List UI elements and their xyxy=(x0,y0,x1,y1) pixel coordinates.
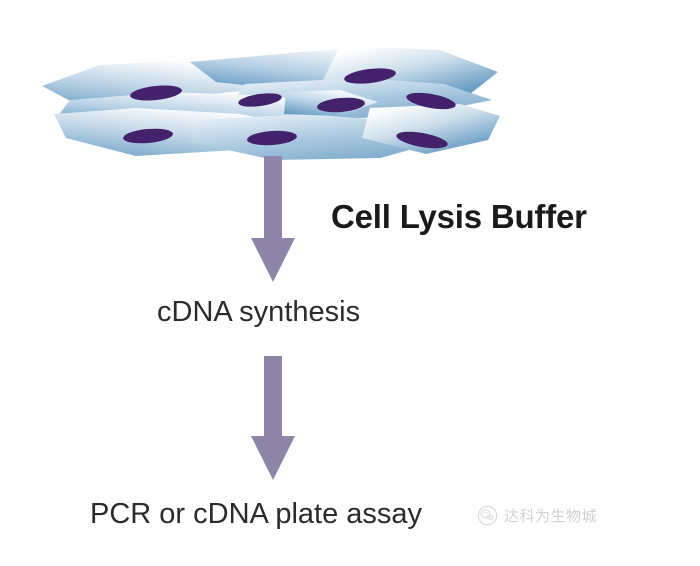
arrow-down-to-pcr-assay xyxy=(249,356,297,480)
wechat-logo-icon xyxy=(477,505,498,526)
watermark-text: 达科为生物城 xyxy=(504,505,597,526)
label-cdna-synthesis: cDNA synthesis xyxy=(157,298,360,327)
label-pcr-plate-assay: PCR or cDNA plate assay xyxy=(90,500,422,529)
arrow-down-to-cdna-synthesis xyxy=(249,156,297,282)
watermark: 达科为生物城 xyxy=(477,505,597,526)
label-cell-lysis-buffer: Cell Lysis Buffer xyxy=(331,200,587,233)
adherent-cell-monolayer-illustration xyxy=(40,38,500,160)
workflow-figure: Cell Lysis Buffer cDNA synthesis PCR or … xyxy=(0,0,700,566)
